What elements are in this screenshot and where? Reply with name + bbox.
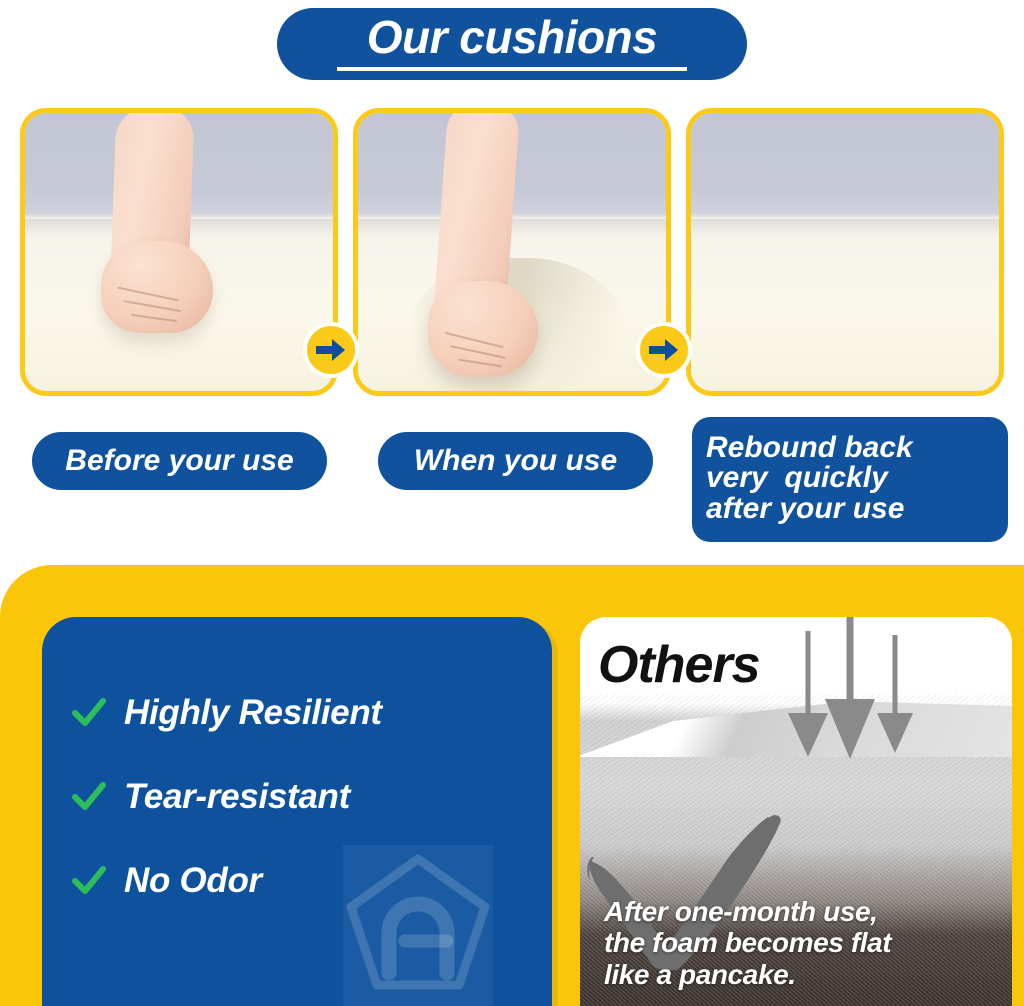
infographic-page: Our cushions [0,0,1024,1006]
caption-after-line-3: after your use [706,494,913,525]
foam-photo-after [691,113,999,391]
check-icon [72,864,106,898]
feature-item: Highly Resilient [72,671,532,755]
features-list: Highly Resilient Tear-resistant No Odor [72,671,532,923]
foam-surface-edge [691,219,999,235]
caption-during-label: When you use [414,446,617,477]
features-card: Highly Resilient Tear-resistant No Odor [42,617,552,1006]
photo-panel-before [20,108,338,396]
feature-item: No Odor [72,839,532,923]
demo-sequence-row [0,108,1024,396]
others-caption-line-3: like a pancake. [604,959,891,990]
caption-after-lines: Rebound back very quickly after your use [706,433,913,525]
others-caption-line-1: After one-month use, [604,896,891,927]
arrow-right-icon [636,322,692,378]
caption-after: Rebound back very quickly after your use [692,417,1008,542]
arrow-right-icon [303,322,359,378]
foam-photo-during [358,113,666,391]
title-underline [337,67,687,71]
check-icon [72,696,106,730]
check-icon [72,780,106,814]
others-comparison-card: Others After one-month use, the foam bec… [580,617,1012,1006]
feature-item: Tear-resistant [72,755,532,839]
knuckle-lines [438,335,532,369]
photo-panel-during [353,108,671,396]
feature-label: Highly Resilient [124,693,382,733]
caption-before-label: Before your use [65,446,293,477]
others-caption: After one-month use, the foam becomes fl… [604,896,891,990]
caption-during: When you use [378,432,653,490]
page-title: Our cushions [367,14,657,60]
feature-label: No Odor [124,861,262,901]
caption-after-line-1: Rebound back [706,433,913,464]
feature-label: Tear-resistant [124,777,350,817]
caption-before: Before your use [32,432,327,490]
page-title-banner: Our cushions [277,8,747,80]
caption-after-line-2: very quickly [706,463,913,494]
foam-photo-before [25,113,333,391]
others-caption-line-2: the foam becomes flat [604,927,891,958]
photo-panel-after [686,108,1004,396]
knuckle-lines [111,289,207,325]
